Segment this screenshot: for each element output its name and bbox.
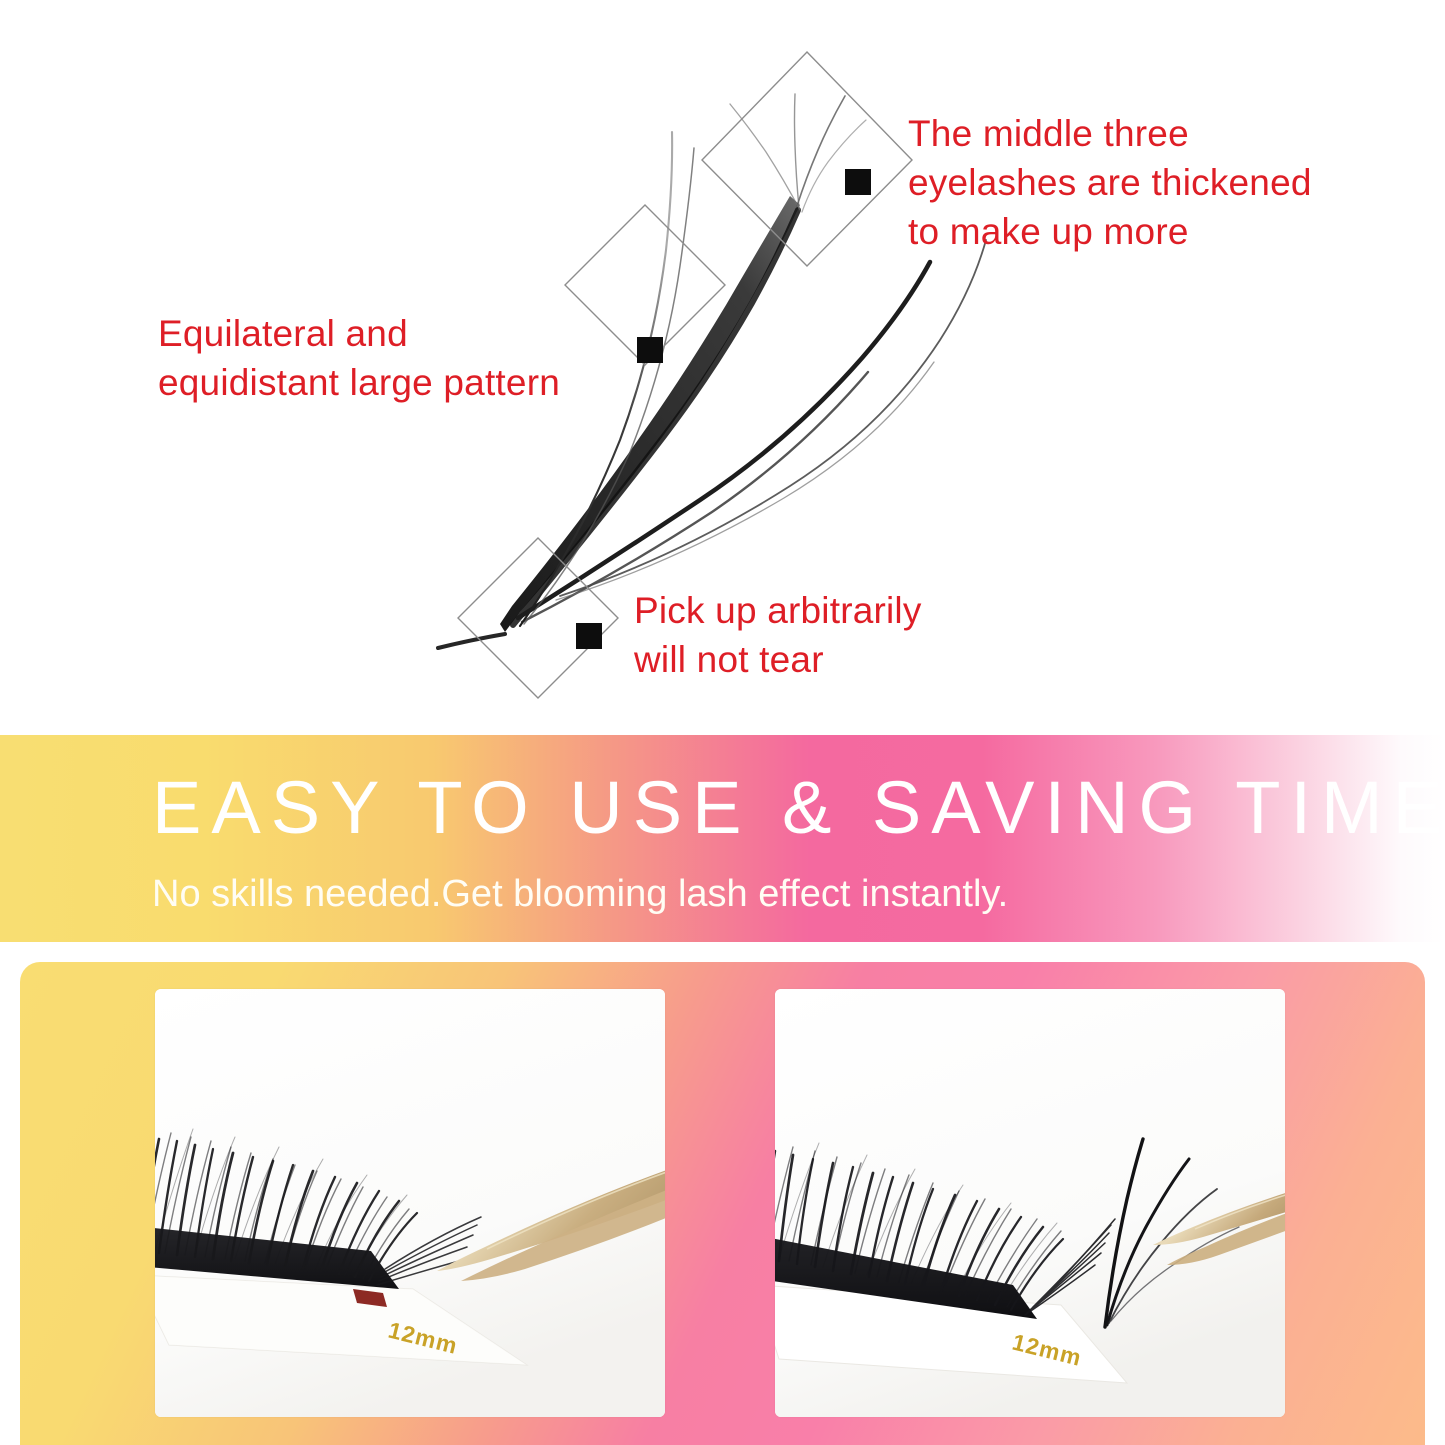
banner-headline: EASY TO USE & SAVING TIME: [152, 771, 1445, 845]
product-photo-left: 12mm: [155, 989, 665, 1417]
callout-marker-equilateral: [637, 337, 663, 363]
lash-tray-tweezer-image: 12mm: [155, 989, 665, 1417]
callout-text-equilateral: Equilateral and equidistant large patter…: [158, 310, 628, 408]
feature-diagram-section: The middle three eyelashes are thickened…: [0, 0, 1445, 735]
callout-marker-middle-three: [845, 169, 871, 195]
callout-text-middle-three: The middle three eyelashes are thickened…: [908, 110, 1348, 256]
callout-text-pick-up: Pick up arbitrarily will not tear: [634, 587, 1034, 685]
callout-marker-pick-up: [576, 623, 602, 649]
lash-tray-fan-image: 12mm: [775, 989, 1285, 1417]
banner-subheadline: No skills needed.Get blooming lash effec…: [152, 875, 1008, 913]
promo-banner: EASY TO USE & SAVING TIME No skills need…: [0, 735, 1445, 942]
product-photo-panel: 12mm: [20, 962, 1425, 1445]
product-photo-right: 12mm: [775, 989, 1285, 1417]
